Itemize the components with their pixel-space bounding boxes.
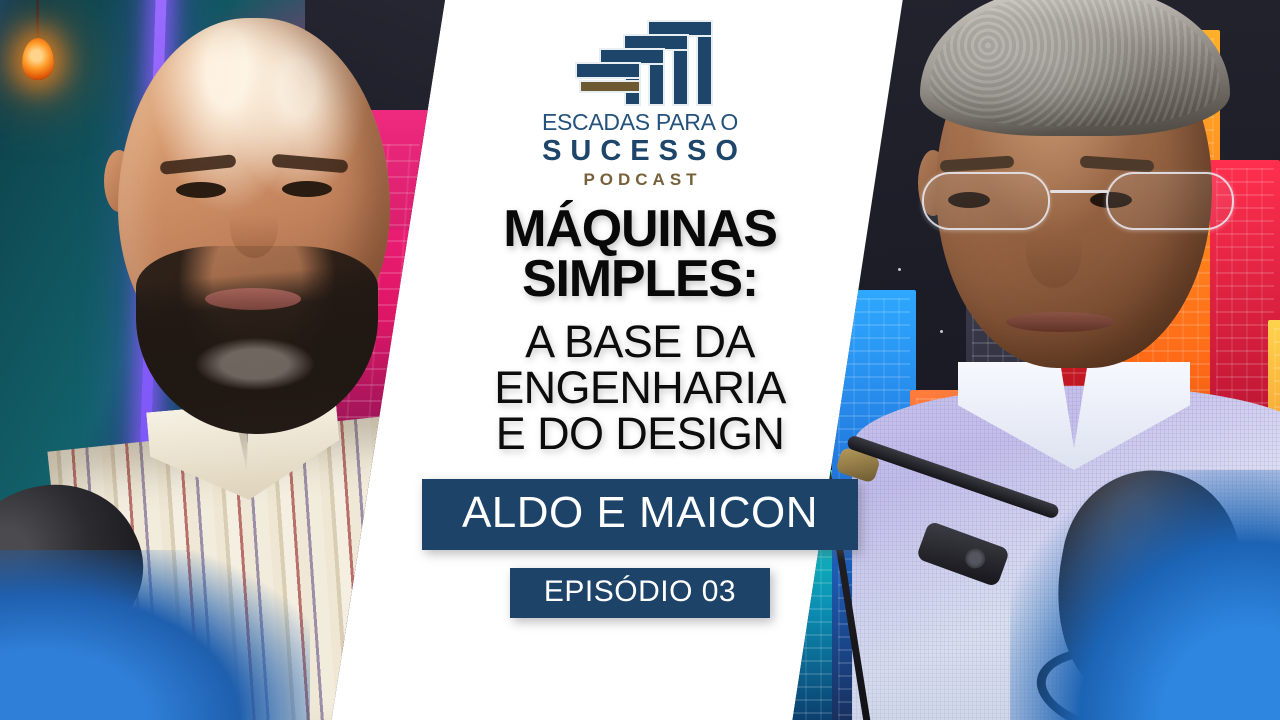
left-host-mouth: [205, 288, 301, 310]
left-host-eye-left: [176, 182, 226, 198]
right-blue-glow: [1010, 470, 1280, 720]
right-host-nose: [1026, 214, 1082, 288]
eyeglass-lens-left: [922, 172, 1050, 230]
lightbulb-icon: [22, 38, 54, 80]
eyeglasses-icon: [918, 172, 1238, 232]
left-host-eye-right: [282, 181, 332, 197]
left-blue-glow: [0, 550, 310, 720]
right-host-mouth: [1006, 312, 1114, 332]
eyeglass-lens-right: [1106, 172, 1234, 230]
eyeglass-bridge: [1050, 190, 1108, 193]
skyline-star: [940, 330, 943, 333]
skyline-star: [898, 268, 901, 271]
bulb-wire: [36, 0, 39, 40]
podcast-thumbnail: ESCADAS PARA O SUCESSO PODCAST MÁQUINAS …: [0, 0, 1280, 720]
right-host-hair: [920, 0, 1230, 136]
